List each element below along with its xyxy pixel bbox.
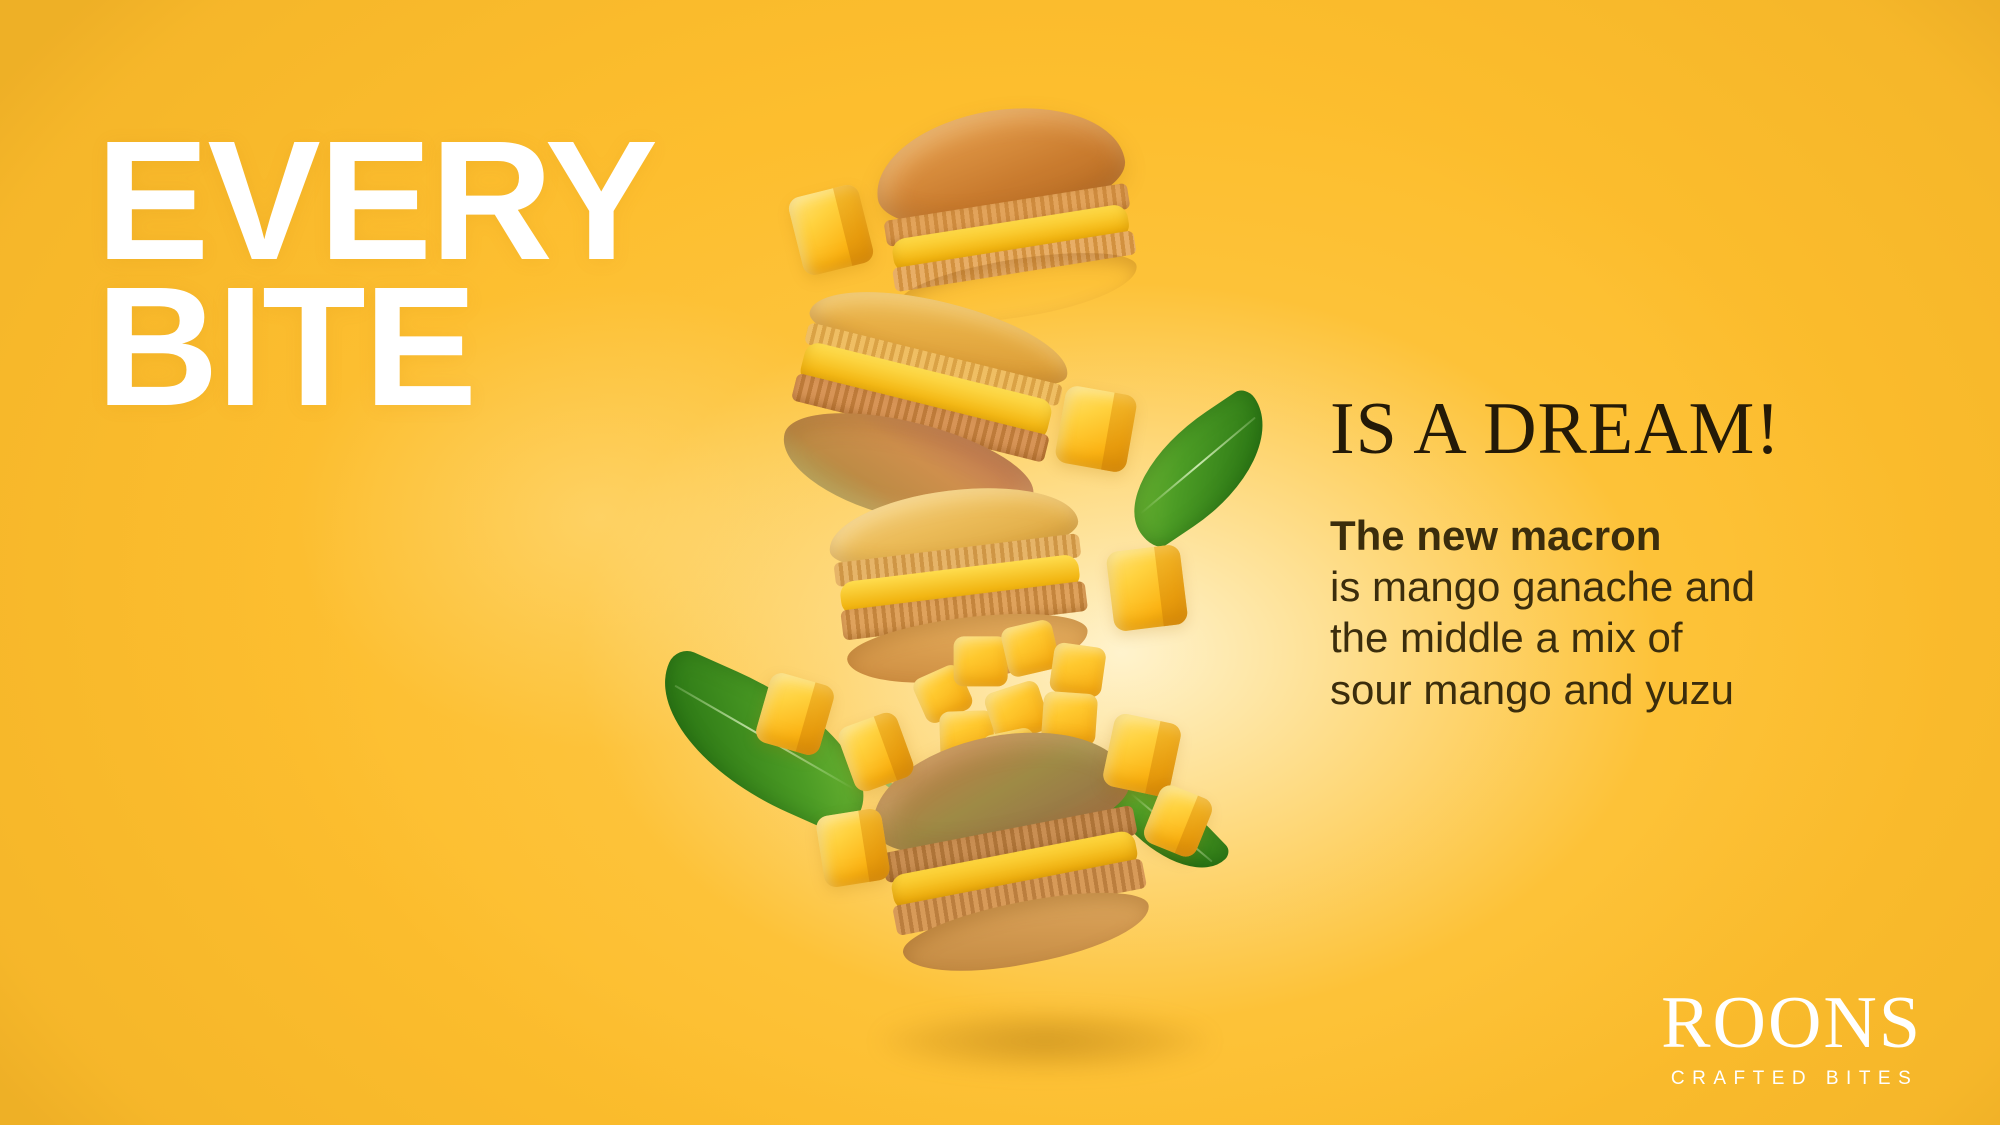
mango-chunk: [954, 636, 1008, 686]
mango-cube: [1105, 544, 1188, 632]
right-copy-block: IS A DREAM! The new macron is mango gana…: [1330, 392, 1890, 715]
mango-cube: [786, 182, 875, 277]
body-copy-line-3: the middle a mix of: [1330, 612, 1890, 663]
body-copy-line-4: sour mango and yuzu: [1330, 664, 1890, 715]
brand-logo: ROONS CRAFTED BITES: [1661, 988, 1922, 1090]
mango-chunk: [1049, 642, 1107, 699]
sub-headline: IS A DREAM!: [1330, 392, 1890, 466]
floor-shadow: [880, 1010, 1210, 1072]
macaron-top: [867, 92, 1143, 314]
advertisement-banner: EVERY BITE: [0, 0, 2000, 1125]
logo-wordmark: ROONS: [1661, 988, 1922, 1058]
body-copy-bold-line: The new macron: [1330, 510, 1890, 561]
mango-cube: [815, 807, 891, 888]
body-copy-line-2: is mango ganache and: [1330, 561, 1890, 612]
logo-tagline: CRAFTED BITES: [1661, 1068, 1922, 1090]
body-copy: The new macron is mango ganache and the …: [1330, 510, 1890, 715]
mango-cube: [1054, 384, 1138, 473]
